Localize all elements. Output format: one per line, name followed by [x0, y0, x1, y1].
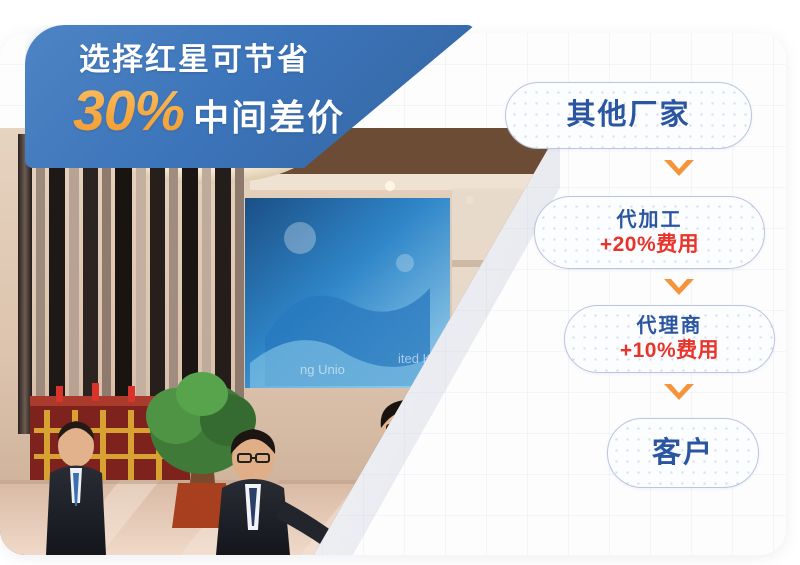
flow-step-label: 代理商	[637, 315, 703, 337]
chevron-down-glyph	[662, 381, 696, 403]
promo-graphic: ng Unio ited King	[0, 0, 800, 565]
flow-step-agent[interactable]: 代理商 +10%费用	[564, 305, 775, 373]
flow-step-fee: +20%费用	[600, 233, 699, 257]
photo-illustration: ng Unio ited King	[0, 128, 560, 555]
svg-text:ited King: ited King	[398, 351, 449, 366]
chevron-down-icon	[662, 157, 696, 179]
flow-step-fee: +10%费用	[620, 339, 719, 363]
chevron-down-glyph	[662, 276, 696, 298]
lobby-handshake-photo: ng Unio ited King	[0, 128, 560, 555]
chevron-down-icon	[662, 276, 696, 298]
flow-step-label: 代加工	[617, 209, 683, 231]
flow-step-label: 其他厂家	[566, 99, 690, 131]
flow-step-oem-processing[interactable]: 代加工 +20%费用	[534, 196, 765, 269]
chevron-down-icon	[662, 381, 696, 403]
flow-step-customer[interactable]: 客户	[607, 418, 759, 488]
flow-step-other-manufacturer[interactable]: 其他厂家	[505, 82, 752, 149]
chevron-down-glyph	[662, 157, 696, 179]
flow-step-label: 客户	[652, 437, 714, 469]
svg-text:ng Unio: ng Unio	[300, 362, 345, 377]
